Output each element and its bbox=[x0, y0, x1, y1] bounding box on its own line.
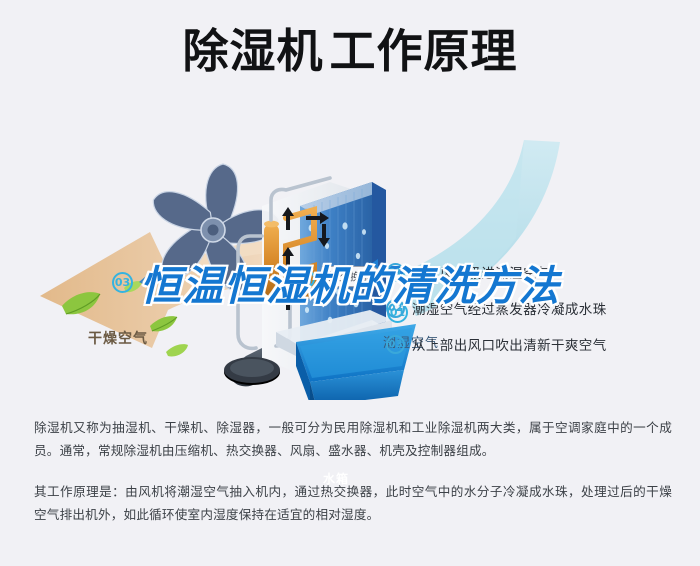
legend-text-01: 由进风口吸进潮湿空气 bbox=[412, 262, 551, 282]
diagram-badge-03: 03 bbox=[112, 272, 133, 293]
heat-exchanger-callout: 热交换器 bbox=[320, 266, 380, 287]
legend-item-01: 01 由进风口吸进潮湿空气 bbox=[386, 262, 696, 282]
legend-list: 01 由进风口吸进潮湿空气 02 潮湿空气经过蒸发器冷凝成水珠 03 从上部出风… bbox=[386, 262, 696, 370]
legend-text-02: 潮湿空气经过蒸发器冷凝成水珠 bbox=[412, 298, 607, 318]
legend-text-03: 从上部出风口吹出清新干爽空气 bbox=[412, 334, 607, 354]
page-title: 除湿机工作原理 bbox=[0, 28, 700, 74]
dry-air-label: 干燥空气 bbox=[88, 328, 148, 348]
paragraph-1: 除湿机又称为抽湿机、干燥机、除湿器，一般可分为民用除湿机和工业除湿机两大类，属于… bbox=[34, 416, 672, 462]
legend-badge-02: 02 bbox=[386, 299, 405, 318]
legend-item-02: 02 潮湿空气经过蒸发器冷凝成水珠 bbox=[386, 298, 696, 318]
title-part-2: 工作原理 bbox=[330, 24, 518, 78]
legend-item-03: 03 从上部出风口吹出清新干爽空气 bbox=[386, 334, 696, 354]
callout-tail-icon bbox=[338, 286, 348, 295]
title-part-1: 除湿机 bbox=[183, 24, 324, 78]
paragraph-2: 其工作原理是：由风机将潮湿空气抽入机内，通过热交换器，此时空气中的水分子冷凝成水… bbox=[34, 480, 672, 526]
description-block: 除湿机又称为抽湿机、干燥机、除湿器，一般可分为民用除湿机和工业除湿机两大类，属于… bbox=[34, 416, 672, 526]
legend-badge-03: 03 bbox=[386, 335, 405, 354]
diagram-badge-02: 02 bbox=[294, 268, 315, 289]
poster-root: 除湿机工作原理 bbox=[0, 0, 700, 566]
receiver-cylinder bbox=[264, 221, 279, 296]
legend-badge-01: 01 bbox=[386, 263, 405, 282]
